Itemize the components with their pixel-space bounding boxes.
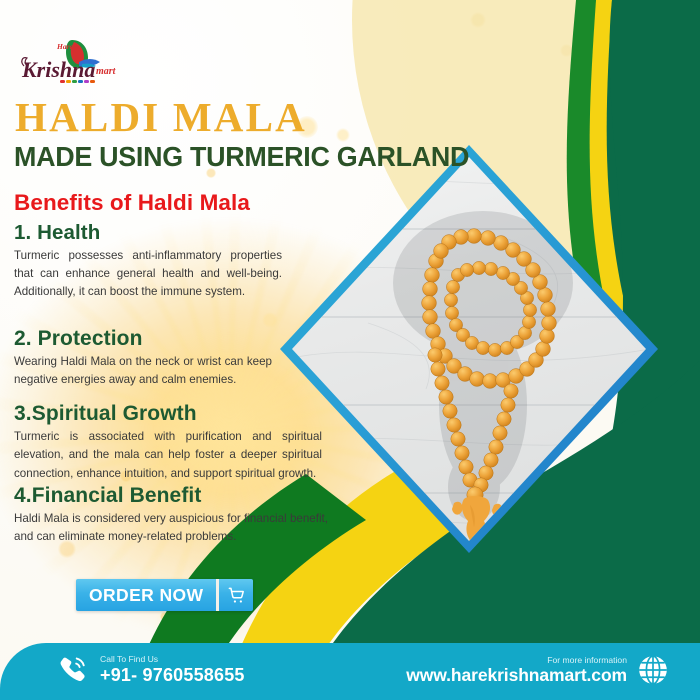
footer-website[interactable]: For more information www.harekrishnamart… <box>406 653 670 687</box>
benefit-title: 1. Health <box>14 222 282 244</box>
phone-number[interactable]: +91- 9760558655 <box>100 666 245 685</box>
page-title: HALDI MALA <box>15 97 307 138</box>
benefit-label: Protection <box>38 327 143 350</box>
benefit-number: 1. <box>14 221 31 244</box>
phone-ringing-icon <box>56 653 90 687</box>
benefit-section: 2. Protection Wearing Haldi Mala on the … <box>14 328 272 390</box>
order-now-label[interactable]: ORDER NOW <box>76 579 216 611</box>
bokeh-circle <box>160 612 169 621</box>
benefit-number: 2. <box>14 327 32 350</box>
benefit-label: Financial Benefit <box>32 484 202 507</box>
benefit-title: 2. Protection <box>14 328 272 350</box>
benefit-body: Haldi Mala is considered very auspicious… <box>14 510 328 547</box>
benefit-number: 4. <box>14 484 32 507</box>
globe-icon <box>636 653 670 687</box>
benefit-body: Wearing Haldi Mala on the neck or wrist … <box>14 353 272 390</box>
bokeh-circle <box>236 556 256 576</box>
benefit-section: 1. Health Turmeric possesses anti-inflam… <box>14 222 282 301</box>
benefit-section: 3.Spiritual Growth Turmeric is associate… <box>14 403 322 483</box>
bokeh-circle <box>336 128 350 142</box>
benefit-body: Turmeric possesses anti-inflammatory pro… <box>14 247 282 302</box>
website-caption: For more information <box>406 656 627 665</box>
logo-hare-text: Hare <box>56 42 74 51</box>
benefit-body: Turmeric is associated with purification… <box>14 428 322 483</box>
order-now-button[interactable]: ORDER NOW <box>76 579 253 611</box>
bokeh-circle <box>262 312 278 328</box>
cart-button[interactable] <box>219 579 253 611</box>
benefit-label: Health <box>37 221 100 244</box>
page-subtitle: MADE USING TURMERIC GARLAND <box>14 143 469 171</box>
logo-mart-text: mart <box>96 66 117 77</box>
brand-logo[interactable]: Hare Krishna mart <box>16 36 124 88</box>
shopping-cart-icon <box>227 586 246 605</box>
product-diamond-frame <box>278 143 660 555</box>
bokeh-circle <box>470 12 486 28</box>
benefit-title: 3.Spiritual Growth <box>14 403 322 425</box>
benefits-heading: Benefits of Haldi Mala <box>14 190 250 216</box>
bokeh-circle <box>560 44 573 57</box>
benefit-number: 3. <box>14 402 32 425</box>
benefit-label: Spiritual Growth <box>32 402 197 425</box>
bokeh-circle <box>286 606 299 619</box>
footer-contact-phone[interactable]: Call To Find Us +91- 9760558655 <box>56 653 245 687</box>
poster-canvas: Hare Krishna mart HALDI MALA MADE USING … <box>0 0 700 700</box>
benefit-section: 4.Financial Benefit Haldi Mala is consid… <box>14 485 328 547</box>
website-url[interactable]: www.harekrishnamart.com <box>406 666 627 684</box>
phone-caption: Call To Find Us <box>100 655 245 664</box>
benefit-title: 4.Financial Benefit <box>14 485 328 507</box>
footer-bar: Call To Find Us +91- 9760558655 For more… <box>0 643 700 700</box>
logo-krishna-text: Krishna <box>21 57 95 82</box>
